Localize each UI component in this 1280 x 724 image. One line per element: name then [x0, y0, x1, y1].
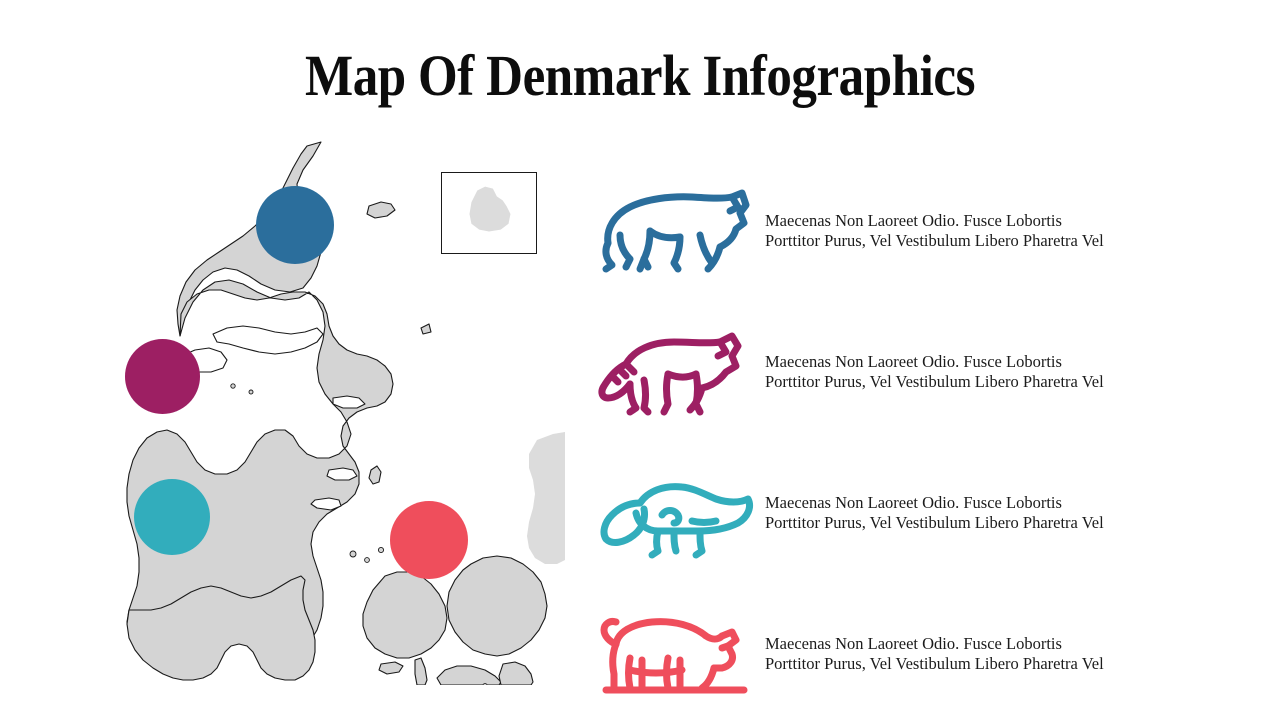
- islet: [483, 684, 488, 685]
- islet: [350, 551, 356, 557]
- water-horsens: [327, 468, 357, 480]
- legend-list: Maecenas Non Laoreet Odio. Fusce Loborti…: [596, 160, 1196, 724]
- pig-icon-svg: [596, 606, 756, 702]
- map-marker-north-jutland[interactable]: [256, 186, 334, 264]
- raccoon-icon: [596, 324, 756, 420]
- page-title: Map Of Denmark Infographics: [77, 40, 1203, 112]
- bornholm-inset: [441, 172, 537, 254]
- map-marker-west-jutland[interactable]: [125, 339, 200, 414]
- legend-text-line-1: Maecenas Non Laoreet Odio. Fusce Loborti…: [765, 211, 1104, 231]
- region-laesoe: [367, 202, 395, 218]
- legend-text-line-2: Porttitor Purus, Vel Vestibulum Libero P…: [765, 654, 1104, 674]
- legend-text-line-2: Porttitor Purus, Vel Vestibulum Libero P…: [765, 372, 1104, 392]
- region-aeroe: [379, 662, 403, 674]
- region-skane: [527, 432, 565, 564]
- region-anholt: [421, 324, 431, 334]
- legend-text-line-1: Maecenas Non Laoreet Odio. Fusce Loborti…: [765, 352, 1104, 372]
- legend-text-line-1: Maecenas Non Laoreet Odio. Fusce Loborti…: [765, 493, 1104, 513]
- region-zealand: [447, 556, 547, 656]
- denmark-map: [85, 140, 565, 685]
- legend-text: Maecenas Non Laoreet Odio. Fusce Loborti…: [765, 493, 1104, 532]
- legend-row[interactable]: Maecenas Non Laoreet Odio. Fusce Loborti…: [596, 583, 1196, 724]
- wolf-icon: [596, 183, 756, 279]
- pig-icon: [596, 606, 756, 702]
- region-bornholm: [469, 187, 510, 232]
- islet: [231, 384, 235, 388]
- region-langeland: [415, 658, 427, 685]
- islet: [365, 558, 370, 563]
- legend-row[interactable]: Maecenas Non Laoreet Odio. Fusce Loborti…: [596, 442, 1196, 583]
- islet: [378, 547, 383, 552]
- raccoon-icon-svg: [596, 324, 756, 420]
- map-marker-south-jutland[interactable]: [134, 479, 210, 555]
- legend-text: Maecenas Non Laoreet Odio. Fusce Loborti…: [765, 211, 1104, 250]
- map-marker-zealand[interactable]: [390, 501, 468, 579]
- bornholm-inset-svg: [442, 173, 536, 253]
- legend-text: Maecenas Non Laoreet Odio. Fusce Loborti…: [765, 634, 1104, 673]
- legend-row[interactable]: Maecenas Non Laoreet Odio. Fusce Loborti…: [596, 301, 1196, 442]
- region-falster: [499, 662, 533, 685]
- region-samsoe: [369, 466, 381, 484]
- beaver-icon: [596, 465, 756, 561]
- region-funen: [363, 572, 447, 658]
- legend-text-line-2: Porttitor Purus, Vel Vestibulum Libero P…: [765, 513, 1104, 533]
- legend-row[interactable]: Maecenas Non Laoreet Odio. Fusce Loborti…: [596, 160, 1196, 301]
- wolf-icon-svg: [596, 183, 756, 279]
- legend-text-line-1: Maecenas Non Laoreet Odio. Fusce Loborti…: [765, 634, 1104, 654]
- legend-text-line-2: Porttitor Purus, Vel Vestibulum Libero P…: [765, 231, 1104, 251]
- islet: [249, 390, 253, 394]
- beaver-icon-svg: [596, 465, 756, 561]
- water-limfjord: [213, 326, 323, 354]
- legend-text: Maecenas Non Laoreet Odio. Fusce Loborti…: [765, 352, 1104, 391]
- region-lolland: [437, 666, 501, 685]
